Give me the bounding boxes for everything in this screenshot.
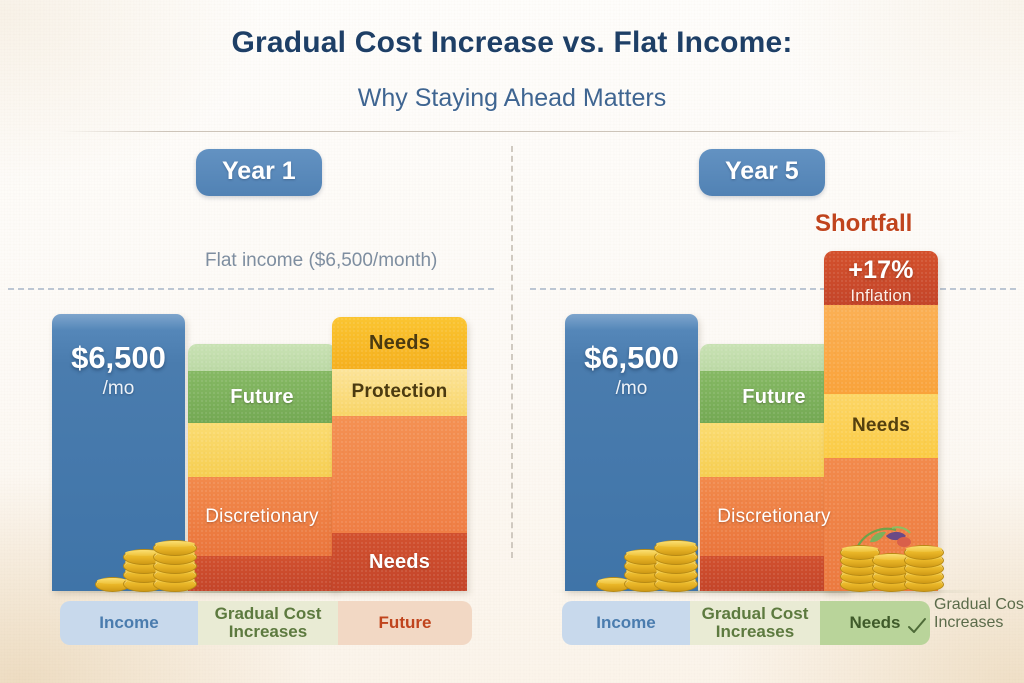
year1-cost-seg-bottom <box>188 556 336 591</box>
year1-legend-item-gradual-cost-increases[interactable]: Gradual Cost Increases <box>198 601 338 645</box>
year1-cost-bar: Future Discretionary <box>188 344 336 591</box>
year5-inflation-label: Inflation <box>850 286 911 305</box>
year1-future-seg-protection: Protection <box>332 369 467 416</box>
year1-legend: Income Gradual Cost Increases Future <box>60 601 472 645</box>
header-divider <box>58 131 966 132</box>
year5-coin-stack-right <box>838 524 950 592</box>
year5-income-unit: /mo <box>565 378 698 400</box>
year1-seg-label-future: Future <box>230 386 293 409</box>
year1-income-unit: /mo <box>52 378 185 400</box>
year1-seg-label-needs-bottom: Needs <box>369 551 430 574</box>
year1-future-seg-orange <box>332 416 467 534</box>
year5-legend-label-gradual-cost-increases: Gradual Cost Increases <box>698 605 812 641</box>
year1-seg-label-protection: Protection <box>352 381 448 403</box>
year5-legend-overflow-label: Gradual Cost Increases <box>934 596 1024 632</box>
flat-income-reference-line-right <box>530 288 1016 290</box>
year1-income-amount: $6,500 <box>52 340 185 376</box>
infographic-canvas: Gradual Cost Increase vs. Flat Income: W… <box>0 0 1024 683</box>
year5-badge: Year 5 <box>699 149 825 196</box>
year1-seg-label-discretionary: Discretionary <box>205 506 318 528</box>
check-icon <box>906 616 928 636</box>
year5-seg-label-discretionary: Discretionary <box>717 506 830 528</box>
year1-seg-label-needs-top: Needs <box>369 332 430 355</box>
year1-future-bar: Needs Protection Needs <box>332 317 467 591</box>
year1-future-seg-needs-bottom: Needs <box>332 533 467 591</box>
year1-legend-label-income: Income <box>99 614 159 632</box>
year5-seg-label-future: Future <box>742 386 805 409</box>
year5-legend: Income Gradual Cost Increases Needs <box>562 601 930 645</box>
year1-cost-seg-future: Future <box>188 371 336 423</box>
year1-coin-stack <box>95 536 205 592</box>
year1-cost-seg-top <box>188 344 336 371</box>
year1-legend-label-future: Future <box>379 614 432 632</box>
year1-legend-item-future[interactable]: Future <box>338 601 472 645</box>
year5-legend-label-income: Income <box>596 614 656 632</box>
year1-legend-label-gradual-cost-increases: Gradual Cost Increases <box>206 605 330 641</box>
flat-income-reference-line-left <box>8 288 494 290</box>
year5-inflation-value: +17% <box>848 256 913 285</box>
year5-needs-seg-needs: Needs <box>824 394 938 459</box>
year5-legend-item-income[interactable]: Income <box>562 601 690 645</box>
bar-highlight <box>565 314 698 330</box>
year5-legend-item-gradual-cost-increases[interactable]: Gradual Cost Increases <box>690 601 820 645</box>
year5-needs-seg-orange-upper <box>824 305 938 393</box>
flat-income-note: Flat income ($6,500/month) <box>205 250 485 272</box>
year5-income-amount: $6,500 <box>565 340 698 376</box>
year5-legend-label-needs: Needs <box>849 614 900 632</box>
year1-future-seg-needs-top: Needs <box>332 317 467 369</box>
year1-badge: Year 1 <box>196 149 322 196</box>
year1-legend-item-income[interactable]: Income <box>60 601 198 645</box>
page-subtitle: Why Staying Ahead Matters <box>0 84 1024 113</box>
bar-highlight <box>52 314 185 330</box>
page-title: Gradual Cost Increase vs. Flat Income: <box>0 26 1024 60</box>
year5-inflation-badge: +17% Inflation <box>824 251 938 305</box>
panel-divider <box>511 146 513 558</box>
year1-cost-seg-discretionary: Discretionary <box>188 477 336 556</box>
year1-cost-seg-yellow <box>188 423 336 477</box>
year5-coin-stack-left <box>596 536 706 592</box>
year5-seg-label-needs: Needs <box>852 415 910 437</box>
shortfall-label: Shortfall <box>815 210 912 238</box>
